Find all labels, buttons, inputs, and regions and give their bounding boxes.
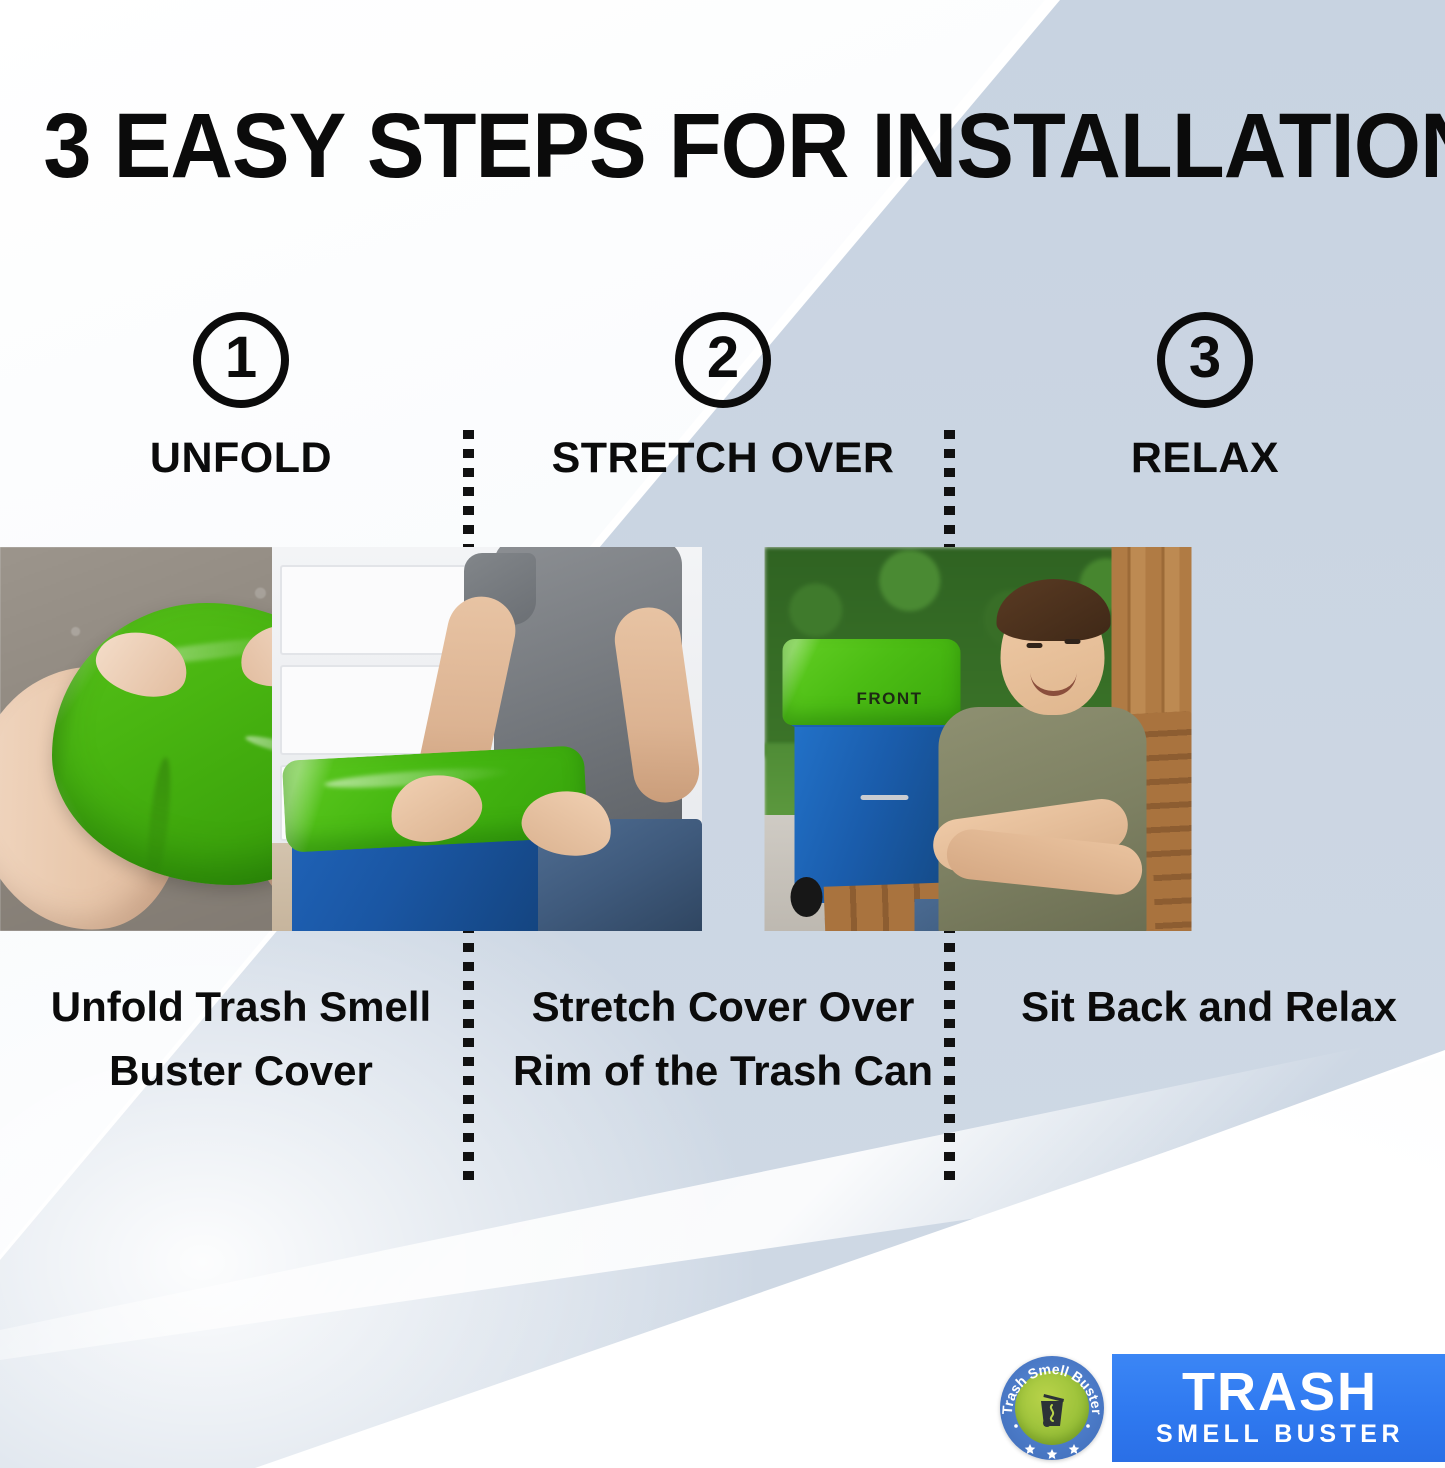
- step-number-3: 3: [1189, 329, 1221, 391]
- step-label-3: RELAX: [964, 434, 1445, 483]
- step-number-badge-1: 1: [193, 312, 289, 408]
- trash-can-handle: [861, 795, 909, 800]
- step-caption-3: Sit Back and Relax: [984, 975, 1434, 1039]
- brand-logo: Trash Smell Buster TRAS: [1000, 1352, 1445, 1464]
- step-label-2: STRETCH OVER: [482, 434, 964, 483]
- trash-can-wheel: [791, 877, 823, 917]
- cover-front-label: FRONT: [857, 689, 923, 709]
- person-left-eye: [1027, 643, 1043, 648]
- step-number-badge-3: 3: [1157, 312, 1253, 408]
- green-cover-installed: [783, 639, 961, 725]
- brand-name-sub: SMELL BUSTER: [1124, 1420, 1436, 1448]
- blue-trash-can: [795, 713, 945, 903]
- trash-can-icon: [1034, 1390, 1070, 1430]
- brand-name-box: TRASH SMELL BUSTER: [1112, 1354, 1445, 1462]
- scene-sit-back-relax: FRONT: [765, 547, 1192, 931]
- person-right-eye: [1065, 639, 1081, 644]
- step-number-1: 1: [225, 329, 257, 391]
- step-caption-1: Unfold Trash Smell Buster Cover: [14, 975, 468, 1103]
- step-caption-2: Stretch Cover Over Rim of the Trash Can: [496, 975, 950, 1103]
- step-column-3: 3 RELAX FRONT: [964, 0, 1445, 1468]
- brand-badge-seal: Trash Smell Buster: [1000, 1356, 1104, 1460]
- step-number-2: 2: [707, 329, 739, 391]
- step-photo-3: FRONT: [765, 547, 1192, 931]
- step-label-1: UNFOLD: [0, 434, 482, 483]
- step-number-badge-2: 2: [675, 312, 771, 408]
- step-photo-2: [272, 547, 702, 931]
- scene-stretch-cover: [272, 547, 702, 931]
- brand-name-main: TRASH: [1124, 1364, 1436, 1420]
- infographic-canvas: 3 EASY STEPS FOR INSTALLATION 1 UNFOLD U…: [0, 0, 1445, 1468]
